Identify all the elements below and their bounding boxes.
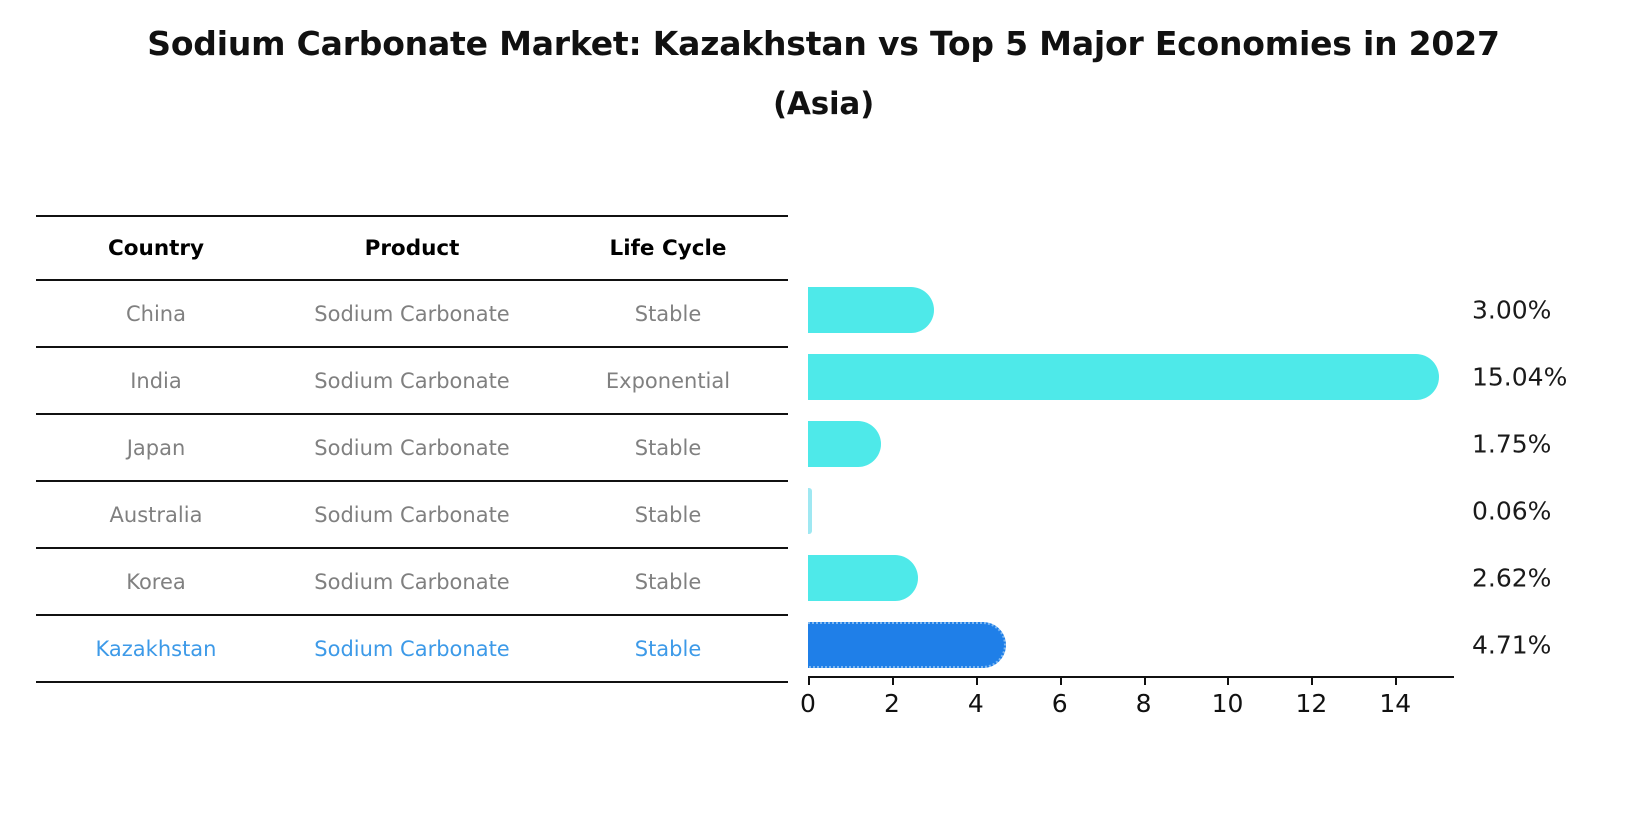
cell-life-cycle: Stable	[548, 615, 788, 682]
cell-product: Sodium Carbonate	[276, 280, 548, 347]
bar-value-india: 15.04%	[1472, 362, 1567, 391]
bar-row-japan: 1.75%	[808, 410, 1468, 477]
x-axis-tick	[1144, 676, 1146, 685]
column-header-product: Product	[276, 216, 548, 280]
cell-life-cycle: Stable	[548, 414, 788, 481]
bar-value-kazakhstan: 4.71%	[1472, 630, 1551, 659]
x-axis-tick	[808, 676, 810, 685]
bar-row-kazakhstan: 4.71%	[808, 611, 1468, 678]
bar-china	[808, 287, 934, 333]
bar-value-china: 3.00%	[1472, 295, 1551, 324]
column-header-life-cycle: Life Cycle	[548, 216, 788, 280]
table-row: India Sodium Carbonate Exponential	[36, 347, 788, 414]
bar-value-japan: 1.75%	[1472, 429, 1551, 458]
x-axis: 02468101214	[808, 676, 1454, 736]
x-axis-tick-label: 14	[1379, 689, 1411, 718]
table-row: Korea Sodium Carbonate Stable	[36, 548, 788, 615]
cell-country: Japan	[36, 414, 276, 481]
x-axis-line	[808, 676, 1454, 678]
bar-value-korea: 2.62%	[1472, 563, 1551, 592]
bar-india	[808, 354, 1439, 400]
column-header-country: Country	[36, 216, 276, 280]
cell-country: Korea	[36, 548, 276, 615]
bar-row-india: 15.04%	[808, 343, 1468, 410]
bar-kazakhstan	[808, 622, 1006, 668]
table-row-highlighted: Kazakhstan Sodium Carbonate Stable	[36, 615, 788, 682]
x-axis-tick-label: 4	[968, 689, 984, 718]
x-axis-tick-label: 2	[884, 689, 900, 718]
table-body: China Sodium Carbonate Stable India Sodi…	[36, 280, 788, 682]
bar-japan	[808, 421, 881, 467]
x-axis-tick	[1395, 676, 1397, 685]
cell-product: Sodium Carbonate	[276, 481, 548, 548]
country-table: Country Product Life Cycle China Sodium …	[36, 215, 788, 683]
cell-product: Sodium Carbonate	[276, 414, 548, 481]
x-axis-tick-label: 12	[1295, 689, 1327, 718]
table-header: Country Product Life Cycle	[36, 216, 788, 280]
cell-life-cycle: Stable	[548, 548, 788, 615]
x-axis-tick-label: 0	[800, 689, 816, 718]
cell-life-cycle: Stable	[548, 280, 788, 347]
chart-title-line-1: Sodium Carbonate Market: Kazakhstan vs T…	[0, 14, 1647, 74]
table-row: Japan Sodium Carbonate Stable	[36, 414, 788, 481]
country-table-panel: Country Product Life Cycle China Sodium …	[36, 215, 788, 683]
cell-life-cycle: Stable	[548, 481, 788, 548]
bar-row-korea: 2.62%	[808, 544, 1468, 611]
chart-title-line-2: (Asia)	[0, 74, 1647, 134]
cell-product: Sodium Carbonate	[276, 548, 548, 615]
x-axis-tick	[1060, 676, 1062, 685]
x-axis-tick	[1311, 676, 1313, 685]
cell-country: Kazakhstan	[36, 615, 276, 682]
bar-row-china: 3.00%	[808, 276, 1468, 343]
cell-country: India	[36, 347, 276, 414]
bar-chart-plot-area: 3.00% 15.04% 1.75% 0.06% 2.62% 4.71%	[808, 276, 1468, 676]
cell-country: Australia	[36, 481, 276, 548]
x-axis-tick-label: 6	[1052, 689, 1068, 718]
cell-product: Sodium Carbonate	[276, 615, 548, 682]
cell-life-cycle: Exponential	[548, 347, 788, 414]
bar-korea	[808, 555, 918, 601]
chart-title: Sodium Carbonate Market: Kazakhstan vs T…	[0, 0, 1647, 134]
x-axis-tick	[892, 676, 894, 685]
table-row: Australia Sodium Carbonate Stable	[36, 481, 788, 548]
table-header-row: Country Product Life Cycle	[36, 216, 788, 280]
cell-country: China	[36, 280, 276, 347]
x-axis-tick	[976, 676, 978, 685]
bar-value-australia: 0.06%	[1472, 496, 1551, 525]
x-axis-tick	[1227, 676, 1229, 685]
x-axis-tick-label: 10	[1212, 689, 1244, 718]
x-axis-tick-label: 8	[1136, 689, 1152, 718]
bar-australia	[808, 488, 812, 534]
cell-product: Sodium Carbonate	[276, 347, 548, 414]
bar-row-australia: 0.06%	[808, 477, 1468, 544]
table-row: China Sodium Carbonate Stable	[36, 280, 788, 347]
chart-figure: Sodium Carbonate Market: Kazakhstan vs T…	[0, 0, 1647, 823]
